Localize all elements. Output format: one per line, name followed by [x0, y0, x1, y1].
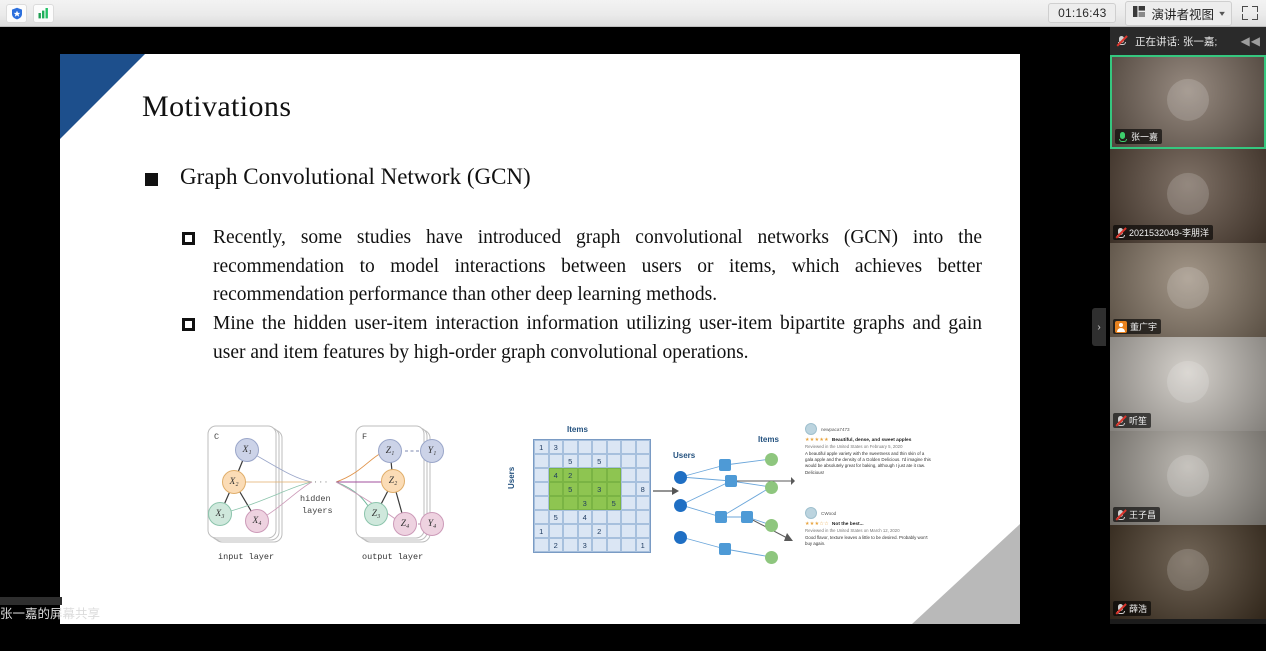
matrix-cell: 2 [563, 468, 578, 482]
participant-name: 张一嘉 [1131, 130, 1158, 143]
bipartite-middle-node [741, 511, 753, 523]
matrix-cell [621, 538, 636, 552]
avatar [1167, 361, 1209, 403]
review-rating-row: ★★★☆☆ Not the best... [805, 521, 933, 527]
review-rating-row: ★★★★★ Beautiful, dense, and sweet apples [805, 437, 933, 443]
matrix-cell [578, 468, 593, 482]
gcn-node-z3: Z₃ [364, 502, 388, 526]
matrix-cell [534, 454, 549, 468]
gcn-node-z4: Z₄ [393, 512, 417, 536]
bullet-level1-text: Graph Convolutional Network (GCN) [180, 164, 531, 190]
avatar [1167, 173, 1209, 215]
matrix-cell [563, 496, 578, 510]
matrix-cell: 5 [563, 454, 578, 468]
participant-name: 薛浩 [1129, 602, 1147, 615]
matrix-cell [607, 524, 622, 538]
matrix-cell [592, 440, 607, 454]
matrix-cell [592, 496, 607, 510]
matrix-cell: 5 [563, 482, 578, 496]
gcn-input-caption: input layer [218, 552, 274, 562]
paragraph-text: Mine the hidden user-item interaction in… [213, 310, 982, 367]
mic-off-icon [1115, 415, 1126, 426]
review-header: CWood [805, 507, 933, 519]
gcn-hidden-label-line2: layers [302, 506, 333, 516]
matrix-cell: 1 [534, 524, 549, 538]
review-meta: Reviewed in the United States on March 1… [805, 528, 933, 533]
star-rating-icon: ★★★☆☆ [805, 521, 829, 527]
bipartite-users-label: Users [673, 451, 695, 460]
participants-panel: 正在讲话: 张一嘉; ◀ ◀ 张一嘉2021532049-李朋洋董广宇听笙王子昌… [1110, 27, 1266, 624]
stage-status-bar [0, 624, 1110, 651]
avatar [1167, 267, 1209, 309]
matrix-cell [563, 440, 578, 454]
matrix-cell [549, 524, 564, 538]
layout-icon [1133, 6, 1145, 20]
bipartite-graph: Users Items [663, 429, 795, 569]
matrix-cell [534, 496, 549, 510]
gcn-output-box-label: F [362, 432, 367, 442]
matrix-cell [621, 524, 636, 538]
chevron-right-icon: › [1097, 322, 1100, 333]
participant-name: 王子昌 [1129, 508, 1156, 521]
review-body: Good flavor, texture leaves a little to … [805, 535, 933, 547]
matrix-cell [563, 510, 578, 524]
figure-strip: · · · [60, 419, 1020, 579]
review-header: newpaca7473 [805, 423, 933, 435]
avatar [1167, 549, 1209, 591]
avatar [805, 423, 817, 435]
matrix-cell: 3 [578, 496, 593, 510]
matrix-cell: 4 [578, 510, 593, 524]
matrix-cell [607, 538, 622, 552]
matrix-cell [549, 454, 564, 468]
bipartite-item-node [765, 551, 778, 564]
chevron-down-icon: ▾ [1219, 9, 1225, 18]
matrix-cell: 3 [592, 482, 607, 496]
matrix-cell: 5 [549, 510, 564, 524]
mic-off-icon [1115, 509, 1126, 520]
matrix-cell [549, 496, 564, 510]
matrix-cell [636, 524, 651, 538]
matrix-cell: 1 [534, 440, 549, 454]
matrix-cell [621, 482, 636, 496]
panel-collapse-button[interactable]: › [1092, 308, 1106, 346]
matrix-cell [621, 454, 636, 468]
star-rating-icon: ★★★★★ [805, 437, 829, 443]
participant-tile[interactable]: 董广宇 [1110, 243, 1266, 337]
bipartite-user-node [674, 471, 687, 484]
bipartite-user-node [674, 499, 687, 512]
page-title: Motivations [142, 90, 291, 124]
toolbar-right-controls: 01:16:43 演讲者视图 ▾ [1048, 1, 1266, 26]
participant-name-badge: 听笙 [1113, 413, 1151, 428]
slide-corner-accent-blue [60, 54, 145, 139]
paragraph-text: Recently, some studies have introduced g… [213, 224, 982, 310]
hollow-square-bullet-icon [182, 232, 195, 245]
matrix-cell: 5 [592, 454, 607, 468]
bipartite-items-label: Items [758, 435, 779, 444]
matrix-cell [592, 510, 607, 524]
gcn-node-z1: Z₁ [378, 439, 402, 463]
gcn-node-x3: X₃ [208, 502, 232, 526]
mic-off-icon [1115, 227, 1126, 238]
screen-share-label: 张一嘉的屏幕共享 [0, 603, 100, 622]
mic-off-icon [1115, 603, 1126, 614]
matrix-cell: 8 [636, 482, 651, 496]
review-card: CWood ★★★☆☆ Not the best... Reviewed in … [805, 507, 933, 547]
matrix-cell [636, 468, 651, 482]
matrix-cell [592, 468, 607, 482]
participant-name-badge: 董广宇 [1113, 319, 1161, 334]
participant-name-badge: 王子昌 [1113, 507, 1160, 522]
bipartite-middle-node [725, 475, 737, 487]
participant-tile[interactable]: 听笙 [1110, 337, 1266, 431]
svg-text:· · ·: · · · [314, 477, 328, 487]
participant-name: 听笙 [1129, 414, 1147, 427]
matrix-cell [578, 482, 593, 496]
matrix-cell: 1 [636, 538, 651, 552]
participant-name-badge: 薛浩 [1113, 601, 1151, 616]
mic-off-icon [1116, 35, 1129, 48]
participant-tile[interactable]: 2021532049-李朋洋 [1110, 149, 1266, 243]
gcn-hidden-label-line1: hidden [300, 494, 331, 504]
matrix-cell [636, 496, 651, 510]
matrix-cell [534, 538, 549, 552]
review-meta: Reviewed in the United States on Februar… [805, 444, 933, 449]
person-orange-icon [1115, 321, 1127, 333]
rating-matrix-figure: Items Users 135542538355412231 Users Ite… [515, 421, 795, 579]
fullscreen-icon[interactable] [1241, 4, 1259, 22]
browser-toolbar: 01:16:43 演讲者视图 ▾ [0, 0, 1266, 27]
avatar [1167, 455, 1209, 497]
square-bullet-icon [145, 173, 158, 186]
active-speaker-header: 正在讲话: 张一嘉; ◀ ◀ [1110, 27, 1266, 55]
matrix-cell [534, 510, 549, 524]
gcn-node-y4: Y₄ [420, 512, 444, 536]
matrix-cell [534, 468, 549, 482]
matrix-cell [563, 524, 578, 538]
bullet-level1: Graph Convolutional Network (GCN) [145, 164, 531, 190]
matrix-cell [534, 482, 549, 496]
participant-name: 董广宇 [1130, 320, 1157, 333]
gcn-node-y1: Y₁ [420, 439, 444, 463]
matrix-cell [621, 496, 636, 510]
bipartite-item-node [765, 519, 778, 532]
matrix-cell [578, 454, 593, 468]
toolbar-left-icons [0, 4, 54, 23]
matrix-cell [563, 538, 578, 552]
avatar [805, 507, 817, 519]
shield-icon[interactable] [6, 4, 27, 23]
prev-page-icon[interactable]: ◀ [1241, 34, 1250, 48]
gcn-node-z2: Z₂ [381, 469, 405, 493]
rating-matrix-grid: 135542538355412231 [533, 439, 651, 553]
hollow-square-bullet-icon [182, 318, 195, 331]
review-title: Beautiful, dense, and sweet apples [832, 438, 911, 443]
matrix-cell [578, 524, 593, 538]
bipartite-item-node [765, 453, 778, 466]
gcn-node-x1: X₁ [235, 438, 259, 462]
review-username: newpaca7473 [821, 427, 850, 432]
matrix-cell [578, 440, 593, 454]
matrix-cell: 3 [549, 440, 564, 454]
matrix-cell [636, 440, 651, 454]
review-card: newpaca7473 ★★★★★ Beautiful, dense, and … [805, 423, 933, 476]
product-reviews-figure: newpaca7473 ★★★★★ Beautiful, dense, and … [805, 423, 933, 578]
bullet-level2-item: Mine the hidden user-item interaction in… [182, 310, 982, 367]
participant-tile[interactable]: 王子昌 [1110, 431, 1266, 525]
matrix-cell [607, 510, 622, 524]
presentation-slide: Motivations Graph Convolutional Network … [60, 54, 1020, 624]
participant-name: 2021532049-李朋洋 [1129, 226, 1209, 239]
matrix-cell [621, 510, 636, 524]
bipartite-item-node [765, 481, 778, 494]
panel-nav-controls[interactable]: ◀ ◀ [1241, 34, 1260, 48]
participant-tile[interactable]: 薛浩 [1110, 525, 1266, 619]
matrix-cell [607, 440, 622, 454]
matrix-cell [621, 440, 636, 454]
gcn-node-x2: X₂ [222, 470, 246, 494]
matrix-cell [549, 482, 564, 496]
matrix-cell [636, 454, 651, 468]
meeting-timer: 01:16:43 [1048, 3, 1116, 23]
active-speaker-label: 正在讲话: 张一嘉; [1135, 34, 1217, 49]
signal-bars-icon[interactable] [33, 4, 54, 23]
review-title: Not the best... [832, 522, 864, 527]
matrix-cell [607, 482, 622, 496]
matrix-cell: 2 [549, 538, 564, 552]
review-body: A beautiful apple variety with the sweet… [805, 451, 933, 476]
matrix-users-label: Users [507, 467, 516, 489]
shared-screen-stage: Motivations Graph Convolutional Network … [0, 27, 1110, 597]
view-mode-label: 演讲者视图 [1151, 4, 1214, 23]
matrix-cell [636, 510, 651, 524]
matrix-cell [607, 454, 622, 468]
view-mode-dropdown[interactable]: 演讲者视图 ▾ [1125, 1, 1232, 26]
bipartite-middle-node [715, 511, 727, 523]
next-page-icon[interactable]: ◀ [1251, 34, 1260, 48]
matrix-items-label: Items [567, 425, 588, 434]
bipartite-user-node [674, 531, 687, 544]
matrix-cell: 5 [607, 496, 622, 510]
gcn-node-x4: X₄ [245, 509, 269, 533]
review-username: CWood [821, 511, 836, 516]
matrix-cell: 3 [578, 538, 593, 552]
matrix-cell [592, 538, 607, 552]
participant-name-badge: 张一嘉 [1115, 129, 1162, 144]
participant-tile[interactable]: 张一嘉 [1110, 55, 1266, 149]
bipartite-middle-node [719, 459, 731, 471]
participant-name-badge: 2021532049-李朋洋 [1113, 225, 1213, 240]
matrix-cell: 4 [549, 468, 564, 482]
bipartite-middle-node [719, 543, 731, 555]
matrix-cell [607, 468, 622, 482]
avatar [1167, 79, 1209, 121]
matrix-cell: 2 [592, 524, 607, 538]
gcn-output-caption: output layer [362, 552, 423, 562]
gcn-input-box-label: C [214, 432, 219, 442]
bullet-level2-item: Recently, some studies have introduced g… [182, 224, 982, 310]
mic-on-icon [1117, 131, 1128, 142]
gcn-architecture-figure: · · · [200, 424, 445, 574]
matrix-cell [621, 468, 636, 482]
